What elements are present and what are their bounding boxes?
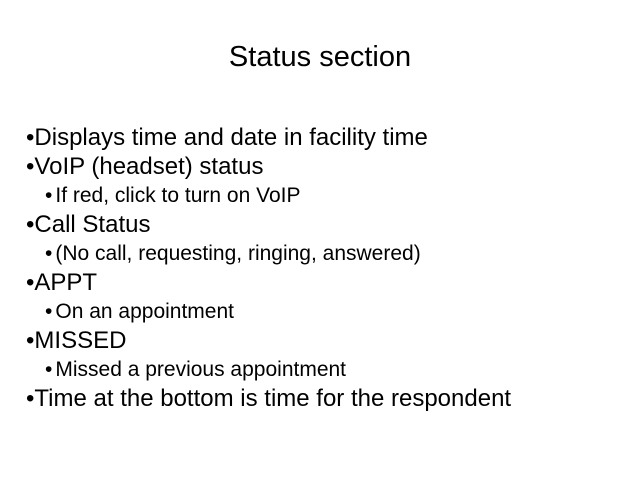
list-item-label: Call Status (34, 211, 150, 238)
list-item: •MISSED (26, 326, 626, 355)
slide-canvas: Status section •Displays time and date i… (0, 0, 640, 480)
list-item: •APPT (26, 268, 626, 297)
list-item: •(No call, requesting, ringing, answered… (26, 239, 626, 268)
list-item: •Missed a previous appointment (26, 355, 626, 384)
list-item-label: Displays time and date in facility time (34, 124, 428, 151)
bullet-icon: • (45, 297, 52, 326)
bullet-icon: • (45, 239, 52, 268)
list-item: •On an appointment (26, 297, 626, 326)
list-item-label: MISSED (34, 327, 126, 354)
list-item-label: Time at the bottom is time for the respo… (34, 385, 511, 412)
list-item: •VoIP (headset) status (26, 152, 626, 181)
list-item: •Call Status (26, 210, 626, 239)
list-item-label: If red, click to turn on VoIP (55, 184, 300, 207)
page-title: Status section (0, 40, 640, 74)
bullet-icon: • (45, 355, 52, 384)
bullet-icon: • (45, 181, 52, 210)
list-item: •If red, click to turn on VoIP (26, 181, 626, 210)
bullet-list: •Displays time and date in facility time… (26, 123, 626, 413)
list-item: •Time at the bottom is time for the resp… (26, 384, 626, 413)
list-item-label: VoIP (headset) status (34, 153, 263, 180)
list-item-label: On an appointment (55, 300, 234, 323)
list-item-label: APPT (34, 269, 97, 296)
list-item-label: (No call, requesting, ringing, answered) (55, 242, 420, 265)
list-item: •Displays time and date in facility time (26, 123, 626, 152)
list-item-label: Missed a previous appointment (55, 358, 346, 381)
